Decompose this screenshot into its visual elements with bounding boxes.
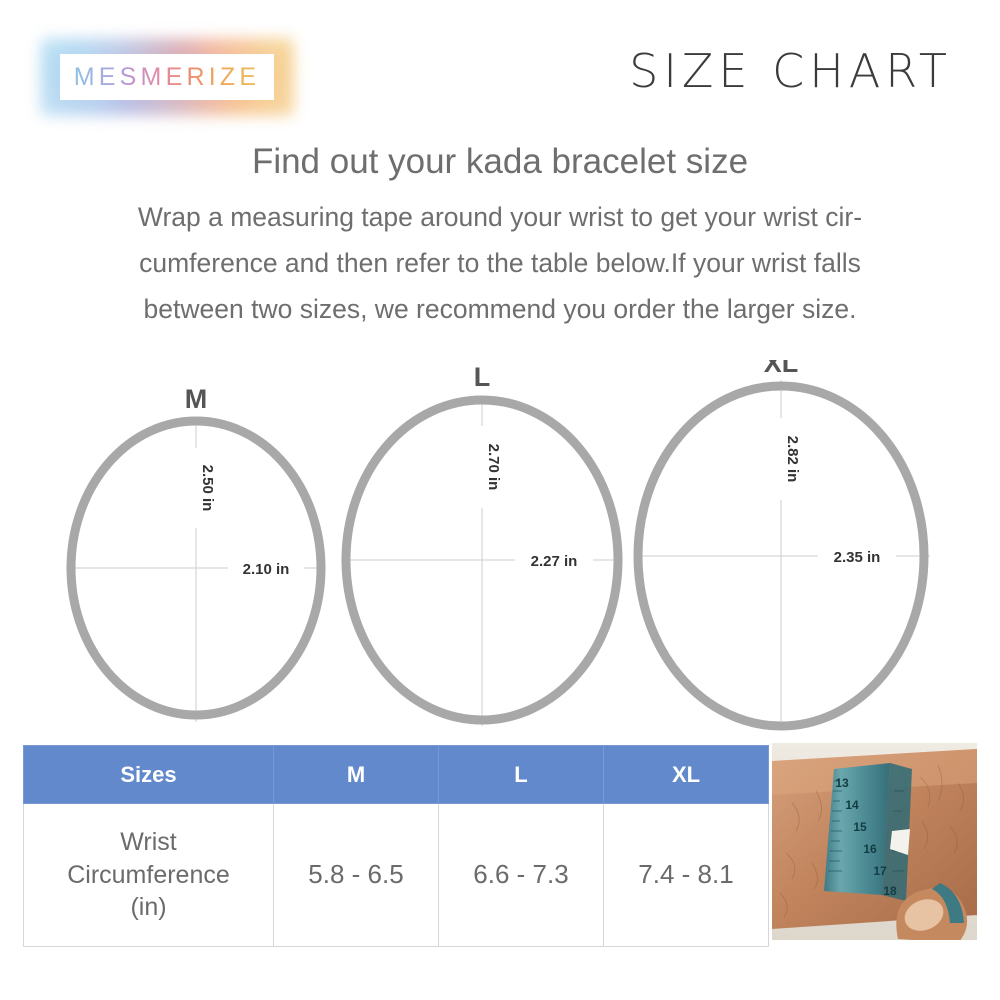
cell-wrist-m: 5.8 - 6.5 (274, 804, 439, 947)
oval-xl-width-label: 2.35 in (834, 549, 881, 566)
intro-line-2: cumference and then refer to the table b… (0, 240, 1000, 286)
tape-number-14: 14 (845, 798, 859, 812)
tape-number-15: 15 (853, 820, 867, 834)
oval-group-xl: XL 2.82 in 2.35 in (634, 360, 930, 728)
brand-wordmark: MESMERIZE (60, 54, 274, 100)
tape-number-16: 16 (863, 842, 877, 856)
oval-l-label: L (474, 362, 491, 392)
oval-l-height-label: 2.70 in (485, 444, 502, 491)
intro-block: Find out your kada bracelet size Wrap a … (0, 140, 1000, 332)
cell-wrist-l: 6.6 - 7.3 (439, 804, 604, 947)
cell-wrist-xl: 7.4 - 8.1 (604, 804, 769, 947)
oval-m-label: M (185, 384, 208, 414)
brand-logo: MESMERIZE (48, 46, 286, 108)
tape-number-13: 13 (835, 776, 849, 790)
intro-heading: Find out your kada bracelet size (0, 140, 1000, 184)
row-label-line-2: Circumference (25, 859, 272, 892)
oval-xl-label: XL (764, 360, 799, 378)
page-title: SIZE CHART (629, 44, 952, 98)
tape-number-18: 18 (883, 884, 897, 898)
intro-line-3: between two sizes, we recommend you orde… (0, 286, 1000, 332)
oval-l-width-label: 2.27 in (531, 553, 578, 570)
row-label-line-3: (in) (25, 891, 272, 924)
table-header-m: M (274, 746, 439, 804)
oval-group-m: M 2.50 in 2.10 in (66, 384, 325, 722)
table-header-sizes: Sizes (24, 746, 274, 804)
oval-m-height-label: 2.50 in (199, 465, 216, 512)
oval-xl-height-label: 2.82 in (784, 436, 801, 483)
table-header-row: Sizes M L XL (24, 746, 769, 804)
oval-m-width-label: 2.10 in (243, 561, 290, 578)
table-row: Wrist Circumference (in) 5.8 - 6.5 6.6 -… (24, 804, 769, 947)
intro-line-1: Wrap a measuring tape around your wrist … (0, 194, 1000, 240)
row-label-wrist-circumference: Wrist Circumference (in) (24, 804, 274, 947)
size-table: Sizes M L XL Wrist Circumference (in) 5.… (23, 745, 769, 947)
oval-diagram: M 2.50 in 2.10 in L 2.70 in 2.27 in XL 2… (0, 360, 1000, 740)
table-header-l: L (439, 746, 604, 804)
tape-number-17: 17 (873, 864, 887, 878)
row-label-line-1: Wrist (25, 826, 272, 859)
oval-group-l: L 2.70 in 2.27 in (341, 362, 623, 726)
wrist-measurement-photo: 13 14 15 16 17 18 (772, 743, 977, 940)
table-header-xl: XL (604, 746, 769, 804)
